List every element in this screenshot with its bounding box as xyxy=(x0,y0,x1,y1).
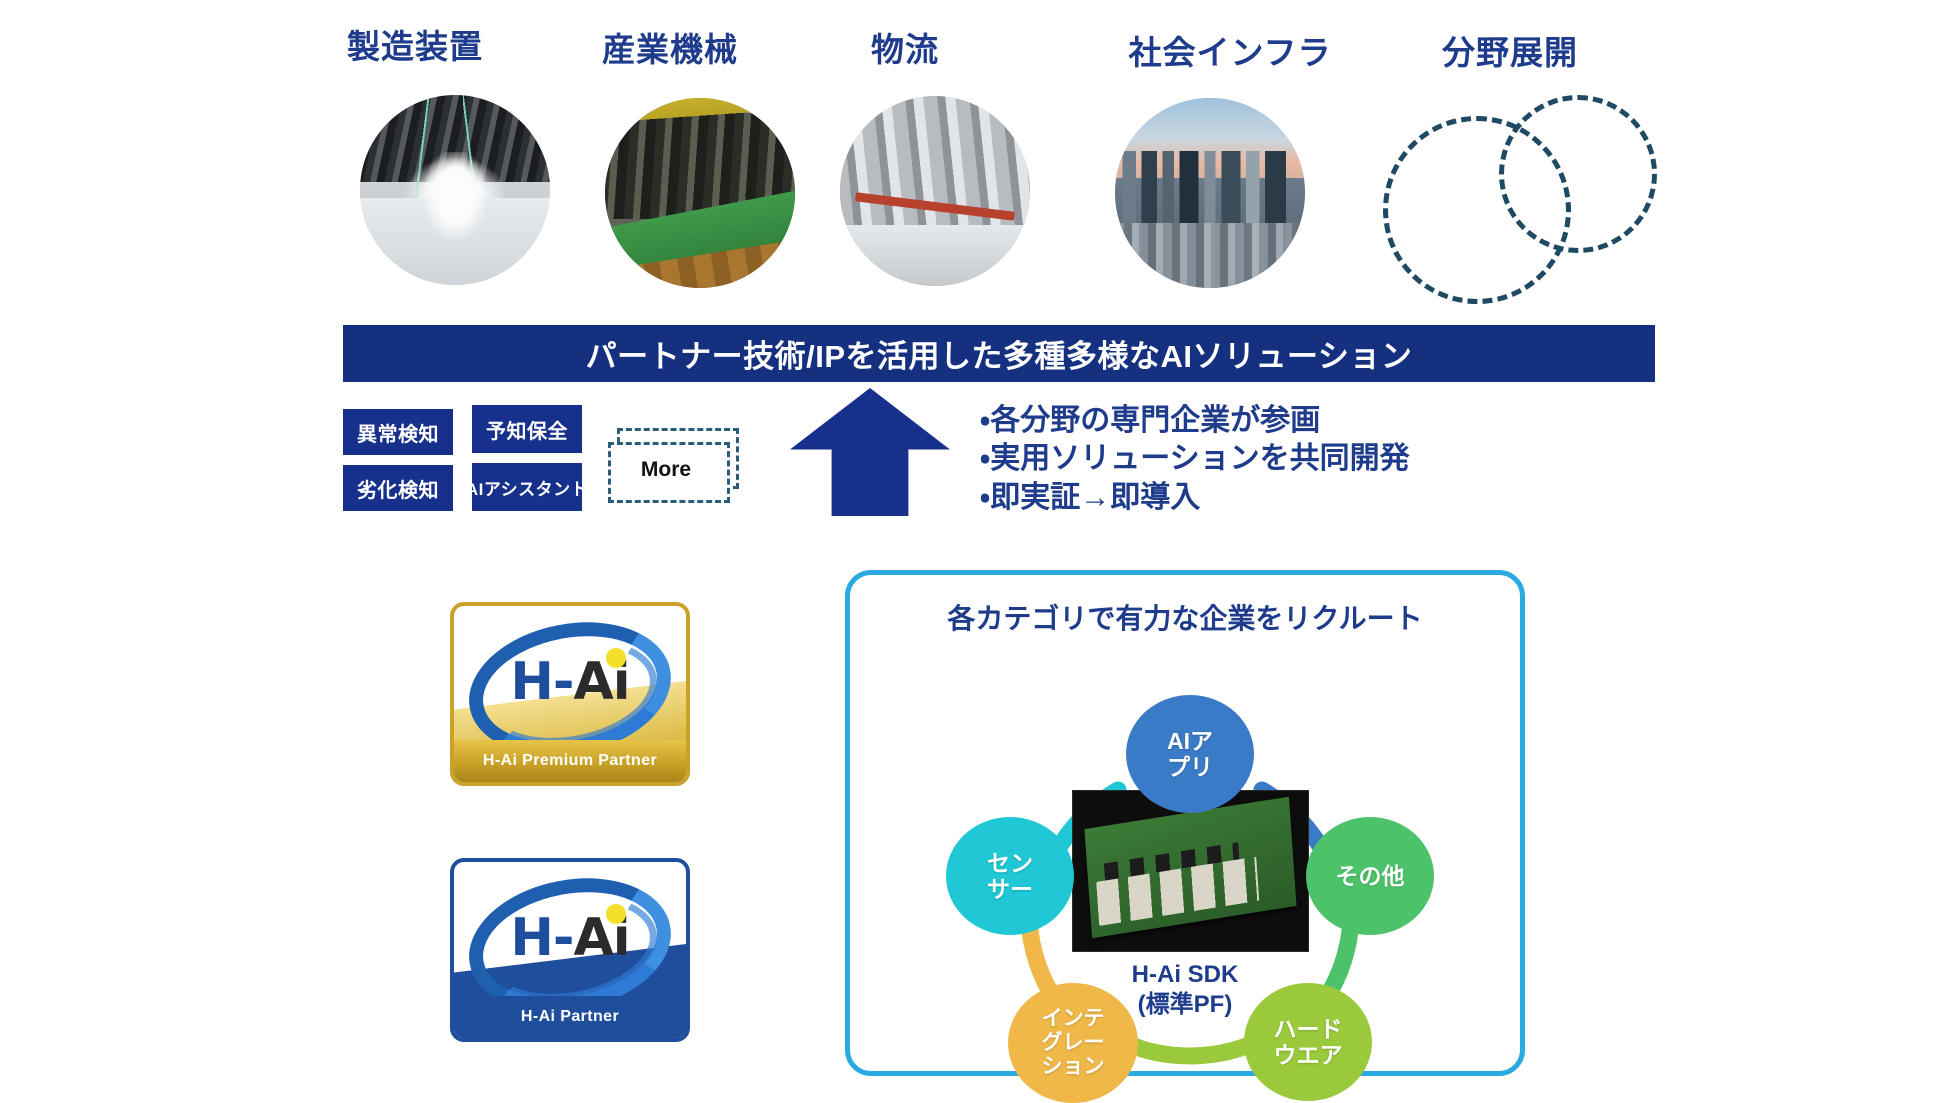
h-ai-wordmark-h: H- xyxy=(510,908,573,968)
category-label-social-infrastructure: 社会インフラ xyxy=(1085,26,1375,74)
tag-predictive-maintenance[interactable]: 予知保全 xyxy=(472,405,582,453)
tag-ai-assistant[interactable]: AIアシスタント xyxy=(472,463,582,511)
h-ai-wordmark-h: H- xyxy=(510,652,573,712)
h-ai-wordmark: H-Ai xyxy=(454,652,686,712)
category-label-logistics: 物流 xyxy=(820,23,990,71)
cycle-node-sensor-line1: セン xyxy=(987,850,1033,876)
semiconductor-fab-cleanroom-image xyxy=(360,95,550,285)
benefit-bullet: ・各分野の専門企業が参画 xyxy=(980,402,1410,440)
badge-premium-body: H-Ai H-Ai Premium Partner xyxy=(454,606,686,782)
badge-premium-footer: H-Ai Premium Partner xyxy=(454,740,686,782)
slide-canvas: 製造装置 産業機械 物流 社会インフラ 分野展開 パートナー技術/IPを活用した… xyxy=(0,0,1950,1089)
cycle-node-sensor[interactable]: セン サー xyxy=(946,817,1074,935)
badge-h-ai-premium-partner[interactable]: H-Ai H-Ai Premium Partner xyxy=(450,602,690,786)
tag-anomaly-detection[interactable]: 異常検知 xyxy=(343,409,453,455)
benefit-bullet: ・即実証→即導入 xyxy=(980,479,1410,517)
cycle-node-hardware[interactable]: ハード ウエア xyxy=(1244,983,1372,1101)
sdk-caption-line1: H-Ai SDK xyxy=(850,960,1520,990)
cycle-node-ai-app[interactable]: AIア プリ xyxy=(1126,695,1254,813)
cycle-node-other[interactable]: その他 xyxy=(1306,817,1434,935)
dashed-circle-right xyxy=(1499,95,1657,253)
solution-banner: パートナー技術/IPを活用した多種多様なAIソリューション xyxy=(343,325,1655,382)
cycle-node-hardware-line2: ウエア xyxy=(1274,1042,1343,1068)
benefit-bullets: ・各分野の専門企業が参画 ・実用ソリューションを共同開発 ・即実証→即導入 xyxy=(980,402,1410,517)
category-photo-manufacturing xyxy=(360,95,550,285)
category-photo-social-infrastructure xyxy=(1115,98,1305,288)
solution-banner-text: パートナー技術/IPを活用した多種多様なAIソリューション xyxy=(586,331,1413,376)
h-ai-wordmark: H-Ai xyxy=(454,908,686,968)
category-photo-logistics xyxy=(840,96,1030,286)
cycle-node-ai-app-line2: プリ xyxy=(1167,754,1213,780)
category-label-manufacturing: 製造装置 xyxy=(300,20,530,68)
h-ai-dot-icon xyxy=(606,904,626,924)
cycle-node-hardware-line1: ハード xyxy=(1274,1016,1343,1042)
industrial-machinery-image xyxy=(605,98,795,288)
h-ai-dot-icon xyxy=(606,648,626,668)
cycle-node-integration-line2: グレー xyxy=(1042,1031,1105,1055)
more-label: More xyxy=(608,442,724,497)
recruit-cycle-panel: 各カテゴリで有力な企業をリクルート H-Ai SDK (標準PF) xyxy=(845,570,1525,1076)
cycle-node-integration[interactable]: インテ グレー ション xyxy=(1008,983,1138,1103)
logistics-warehouse-image xyxy=(840,96,1030,286)
badge-h-ai-partner[interactable]: H-Ai H-Ai Partner xyxy=(450,858,690,1042)
city-infrastructure-image xyxy=(1115,98,1305,288)
cycle-node-other-label: その他 xyxy=(1336,863,1405,889)
badge-partner-footer: H-Ai Partner xyxy=(454,996,686,1038)
category-photo-industrial-machinery xyxy=(605,98,795,288)
cycle-node-integration-line3: ション xyxy=(1042,1055,1105,1079)
tag-degradation-detection[interactable]: 劣化検知 xyxy=(343,465,453,511)
cycle-node-ai-app-line1: AIア xyxy=(1167,728,1213,754)
sdk-caption-line2: (標準PF) xyxy=(850,990,1520,1020)
h-ai-sdk-board-image xyxy=(1072,790,1309,952)
up-arrow-icon xyxy=(790,388,950,516)
cycle-node-integration-line1: インテ xyxy=(1042,1007,1105,1031)
benefit-bullet: ・実用ソリューションを共同開発 xyxy=(980,440,1410,478)
category-label-industrial-machinery: 産業機械 xyxy=(555,23,785,71)
badge-partner-body: H-Ai H-Ai Partner xyxy=(454,862,686,1038)
category-label-field-expansion: 分野展開 xyxy=(1395,26,1625,74)
cycle-node-sensor-line2: サー xyxy=(987,876,1033,902)
